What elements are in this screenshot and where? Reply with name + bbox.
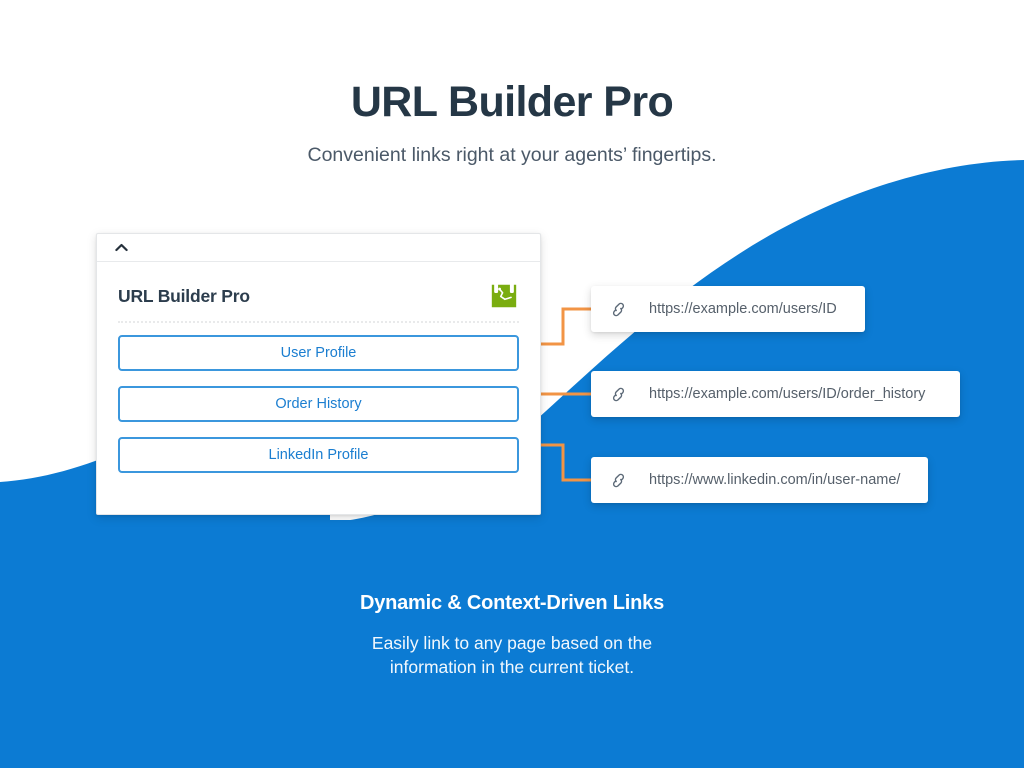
link-icon [609,300,628,319]
link-icon [609,471,628,490]
link-icon [609,385,628,404]
promo-graphic: URL Builder Pro Convenient links right a… [0,0,1024,768]
url-text: https://www.linkedin.com/in/user-name/ [649,472,900,488]
url-builder-pro-logo-icon [489,281,519,311]
url-chip-linkedin-profile[interactable]: https://www.linkedin.com/in/user-name/ [591,457,928,503]
app-card-header: URL Builder Pro [118,279,519,313]
url-text: https://example.com/users/ID [649,301,837,317]
app-card: URL Builder Pro User Profile Order Histo… [96,233,541,515]
app-card-title: URL Builder Pro [118,286,250,307]
divider [118,321,519,323]
url-text: https://example.com/users/ID/order_histo… [649,386,925,402]
link-button-linkedin-profile[interactable]: LinkedIn Profile [118,437,519,473]
chevron-up-icon[interactable] [115,243,128,252]
app-card-body: URL Builder Pro User Profile Order Histo… [97,262,540,473]
link-button-user-profile[interactable]: User Profile [118,335,519,371]
url-chip-user-profile[interactable]: https://example.com/users/ID [591,286,865,332]
quick-link-button-list: User Profile Order History LinkedIn Prof… [118,335,519,473]
link-button-order-history[interactable]: Order History [118,386,519,422]
url-chip-order-history[interactable]: https://example.com/users/ID/order_histo… [591,371,960,417]
app-card-topbar [97,234,540,262]
